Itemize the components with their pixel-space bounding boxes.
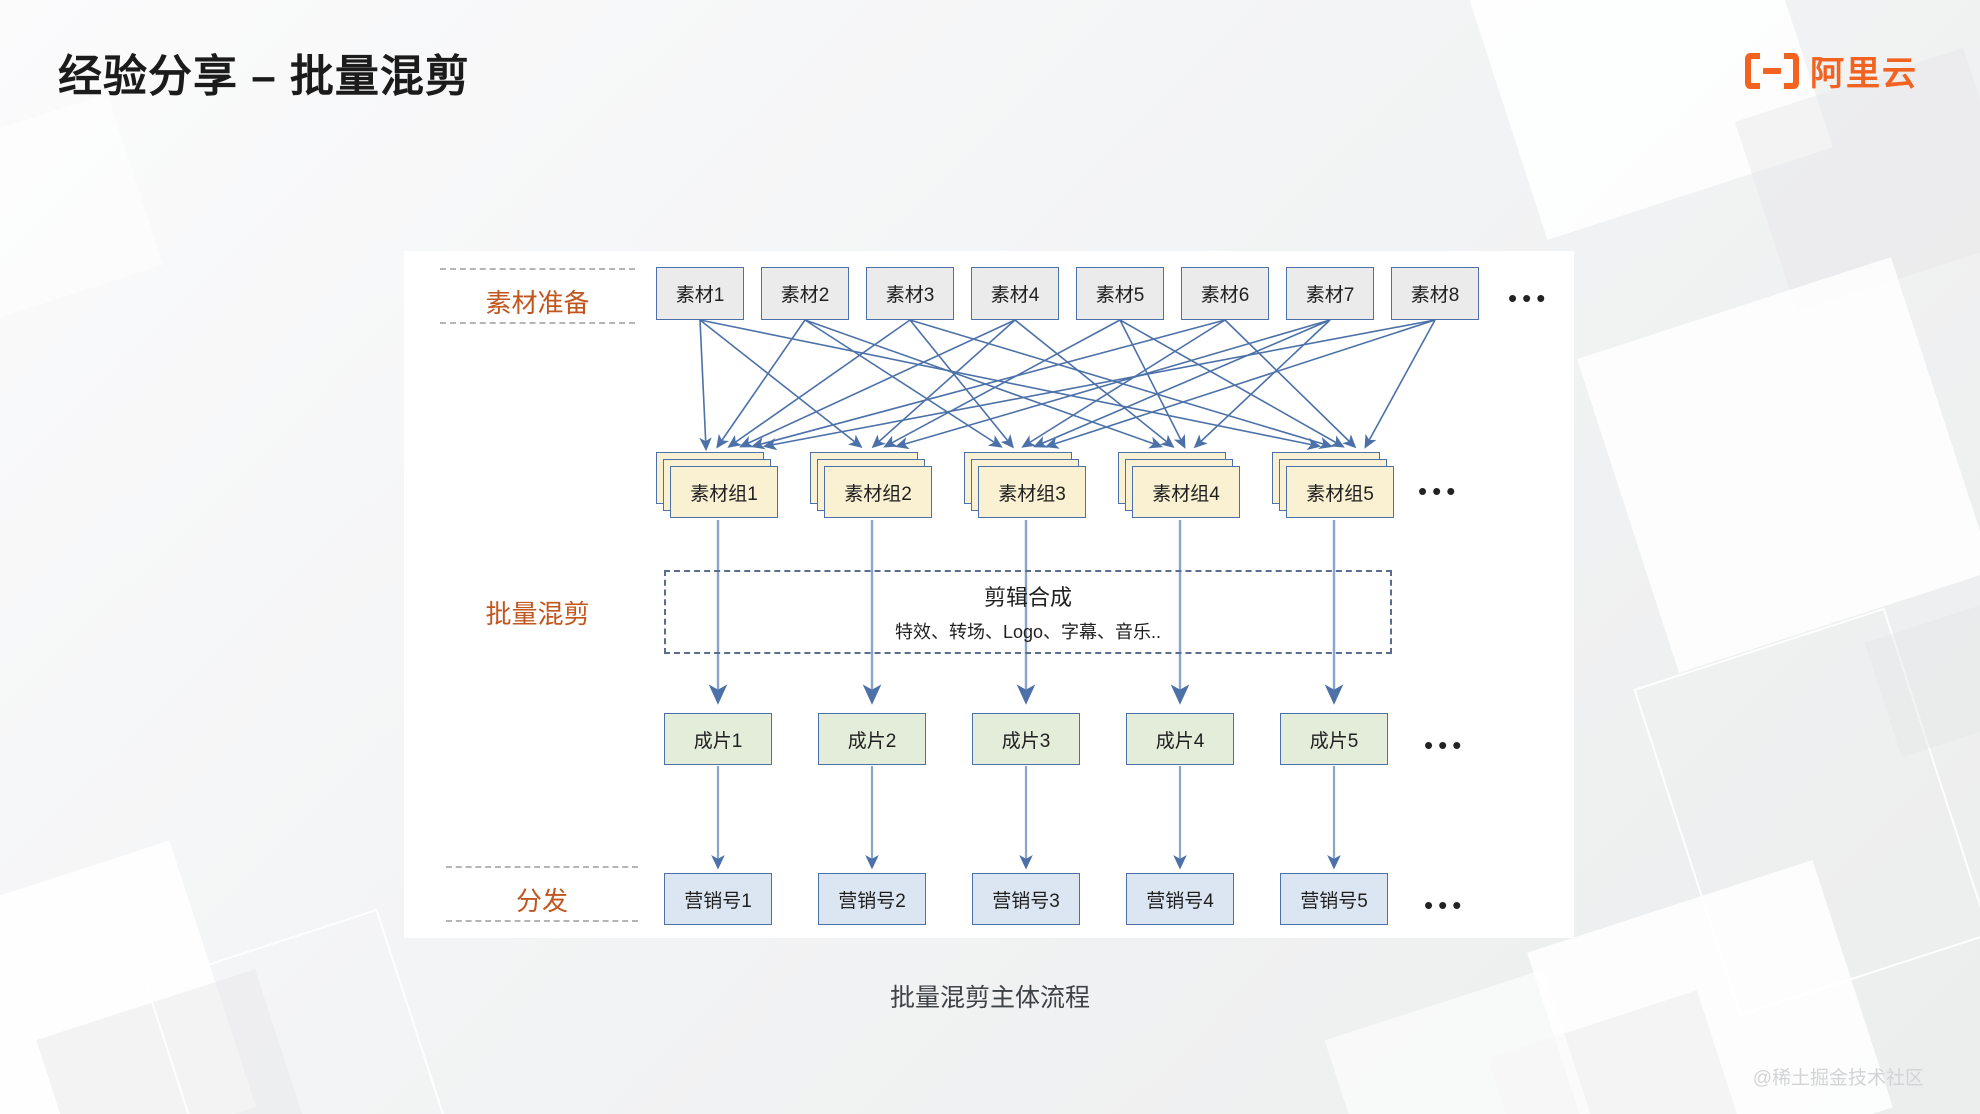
stack-card-front: 素材组3 — [978, 466, 1086, 518]
stack-card-front: 素材组2 — [824, 466, 932, 518]
stage-label-material-prep: 素材准备 — [440, 283, 635, 320]
channel-node[interactable]: 营销号2 — [818, 873, 926, 925]
aliyun-logo: 阿里云 — [1744, 46, 1918, 95]
channel-node[interactable]: 营销号3 — [972, 873, 1080, 925]
aliyun-mark-icon — [1744, 51, 1800, 91]
material-node[interactable]: 素材3 — [866, 267, 954, 320]
material-group-node[interactable]: 素材组3 — [964, 452, 1086, 518]
stack-card-front: 素材组1 — [670, 466, 778, 518]
diagram-caption: 批量混剪主体流程 — [0, 978, 1980, 1014]
material-group-node[interactable]: 素材组5 — [1272, 452, 1394, 518]
materials-ellipsis: ••• — [1508, 285, 1550, 311]
channels-ellipsis: ••• — [1424, 892, 1466, 918]
channel-node[interactable]: 营销号1 — [664, 873, 772, 925]
compose-subtitle: 特效、转场、Logo、字幕、音乐.. — [895, 618, 1161, 644]
stack-card-front: 素材组5 — [1286, 466, 1394, 518]
material-node[interactable]: 素材7 — [1286, 267, 1374, 320]
channel-node[interactable]: 营销号5 — [1280, 873, 1388, 925]
material-node[interactable]: 素材8 — [1391, 267, 1479, 320]
material-node[interactable]: 素材1 — [656, 267, 744, 320]
material-group-node[interactable]: 素材组1 — [656, 452, 778, 518]
material-node[interactable]: 素材4 — [971, 267, 1059, 320]
stage-label-distribute: 分发 — [446, 881, 638, 918]
stage-rule-top-materials — [440, 268, 635, 270]
material-node[interactable]: 素材6 — [1181, 267, 1269, 320]
compose-title: 剪辑合成 — [984, 580, 1072, 612]
material-node[interactable]: 素材5 — [1076, 267, 1164, 320]
final-video-node[interactable]: 成片2 — [818, 713, 926, 765]
stage-rule-bottom-materials — [440, 322, 635, 324]
page-title: 经验分享 – 批量混剪 — [58, 40, 470, 104]
material-node[interactable]: 素材2 — [761, 267, 849, 320]
final-video-node[interactable]: 成片3 — [972, 713, 1080, 765]
material-group-node[interactable]: 素材组4 — [1118, 452, 1240, 518]
final-videos-ellipsis: ••• — [1424, 732, 1466, 758]
final-video-node[interactable]: 成片4 — [1126, 713, 1234, 765]
stage-label-batch-mix: 批量混剪 — [440, 594, 635, 631]
stage-rule-bottom-distribute — [446, 920, 638, 922]
material-group-node[interactable]: 素材组2 — [810, 452, 932, 518]
logo-brand-text: 阿里云 — [1810, 46, 1918, 95]
stack-card-front: 素材组4 — [1132, 466, 1240, 518]
stage-rule-top-distribute — [446, 866, 638, 868]
final-video-node[interactable]: 成片1 — [664, 713, 772, 765]
material-groups-ellipsis: ••• — [1418, 478, 1460, 504]
final-video-node[interactable]: 成片5 — [1280, 713, 1388, 765]
watermark: @稀土掘金技术社区 — [1753, 1063, 1924, 1090]
compose-box: 剪辑合成 特效、转场、Logo、字幕、音乐.. — [664, 570, 1392, 654]
channel-node[interactable]: 营销号4 — [1126, 873, 1234, 925]
